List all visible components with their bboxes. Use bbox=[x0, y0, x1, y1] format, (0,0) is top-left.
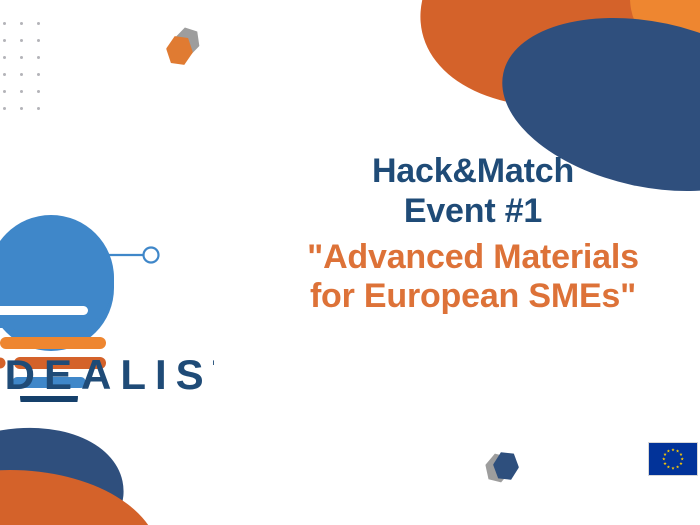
grid-dot bbox=[37, 39, 40, 42]
grid-dot bbox=[20, 73, 23, 76]
grid-dot bbox=[20, 107, 23, 110]
eu-star bbox=[667, 449, 670, 452]
grid-dot bbox=[3, 22, 6, 25]
grid-dot bbox=[37, 107, 40, 110]
svg-text:IDEALIST: IDEALIST bbox=[0, 353, 214, 398]
grid-dot bbox=[37, 56, 40, 59]
grid-dot bbox=[37, 73, 40, 76]
grid-dot bbox=[37, 22, 40, 25]
eu-star bbox=[679, 453, 682, 456]
grid-dot bbox=[3, 107, 6, 110]
grid-dot bbox=[20, 56, 23, 59]
eu-star bbox=[679, 462, 682, 465]
title-block: Hack&Match Event #1 "Advanced Materials … bbox=[246, 152, 700, 317]
eu-star bbox=[676, 465, 679, 468]
idealist-wordmark: IDEALIST bbox=[0, 353, 214, 399]
grid-dot bbox=[3, 39, 6, 42]
grid-dot bbox=[20, 39, 23, 42]
eu-star bbox=[671, 448, 674, 451]
title-line-1: Hack&Match bbox=[246, 152, 700, 192]
eu-star bbox=[663, 462, 666, 465]
grid-dot bbox=[37, 90, 40, 93]
eu-star bbox=[676, 449, 679, 452]
eu-star bbox=[667, 465, 670, 468]
eu-star bbox=[671, 466, 674, 469]
title-line-4: for European SMEs" bbox=[246, 277, 700, 317]
event-poster: IDEALIST Hack&Match Event #1 "Advanced M… bbox=[0, 0, 700, 525]
grid-dot bbox=[20, 22, 23, 25]
grid-dot bbox=[3, 56, 6, 59]
grid-dot bbox=[20, 90, 23, 93]
eu-star bbox=[663, 453, 666, 456]
title-line-3: "Advanced Materials bbox=[246, 238, 700, 278]
eu-flag-stars bbox=[649, 443, 697, 475]
title-line-2: Event #1 bbox=[246, 192, 700, 232]
dot-grid-pattern bbox=[0, 22, 56, 132]
european-union-flag bbox=[648, 442, 698, 476]
grid-dot bbox=[3, 73, 6, 76]
eu-star bbox=[681, 457, 684, 460]
grid-dot bbox=[3, 90, 6, 93]
eu-star bbox=[662, 457, 665, 460]
